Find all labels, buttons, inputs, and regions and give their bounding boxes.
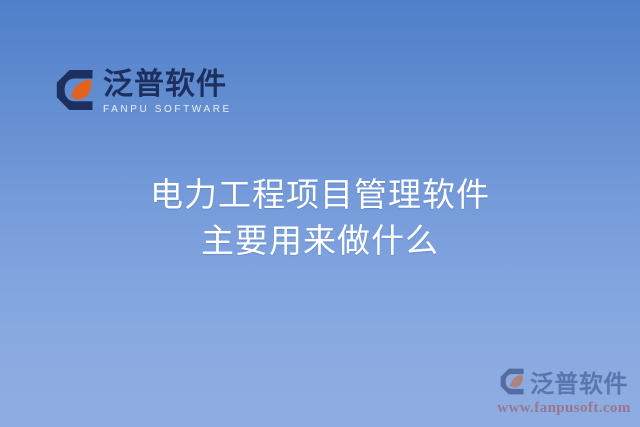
brand-name-en: FANPU SOFTWARE bbox=[103, 104, 232, 116]
watermark-url: www.fanpusoft.com bbox=[494, 400, 634, 417]
watermark-name-cn: 泛普软件 bbox=[530, 364, 628, 399]
fanpu-hexagon-logo-icon bbox=[56, 69, 96, 111]
slide-canvas: 泛普软件 FANPU SOFTWARE 电力工程项目管理软件 主要用来做什么 泛… bbox=[0, 0, 640, 427]
brand-logo[interactable]: 泛普软件 FANPU SOFTWARE bbox=[56, 68, 232, 116]
fanpu-hexagon-logo-watermark-icon bbox=[500, 368, 526, 395]
page-title-line-2: 主要用来做什么 bbox=[0, 219, 640, 265]
watermark-logo-row: 泛普软件 bbox=[494, 364, 634, 399]
brand-name-cn: 泛普软件 bbox=[103, 68, 232, 102]
page-title-line-1: 电力工程项目管理软件 bbox=[0, 173, 640, 219]
brand-text: 泛普软件 FANPU SOFTWARE bbox=[103, 68, 232, 116]
watermark: 泛普软件 www.fanpusoft.com bbox=[494, 364, 634, 417]
page-title: 电力工程项目管理软件 主要用来做什么 bbox=[0, 173, 640, 265]
